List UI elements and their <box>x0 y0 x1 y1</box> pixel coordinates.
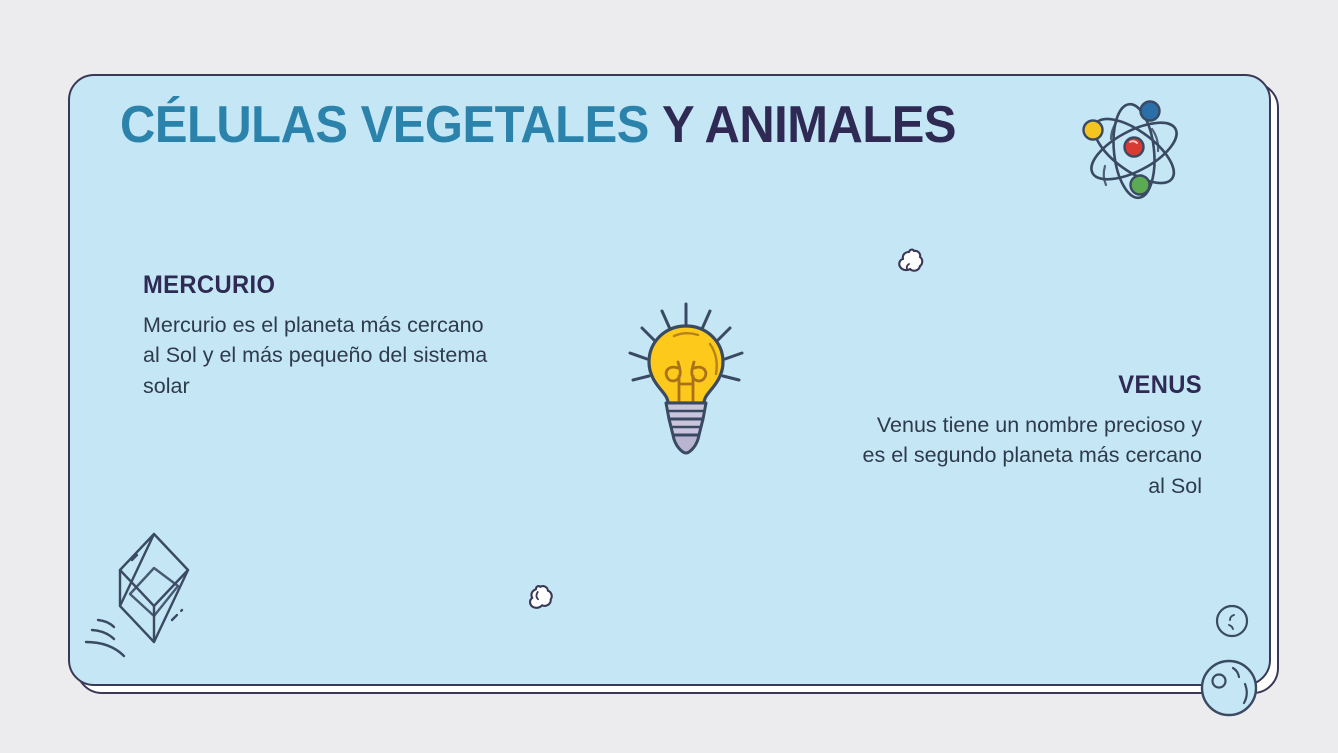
slide-stage: CÉLULAS VEGETALES Y ANIMALES MERCURIO Me… <box>0 0 1338 753</box>
atom-icon <box>1073 90 1195 212</box>
slide-card: CÉLULAS VEGETALES Y ANIMALES MERCURIO Me… <box>68 74 1271 686</box>
info-block-mercurio: MERCURIO Mercurio es el planeta más cerc… <box>143 272 503 401</box>
lightbulb-icon <box>622 298 750 460</box>
info-block-heading: VENUS <box>868 372 1202 400</box>
page-title: CÉLULAS VEGETALES Y ANIMALES <box>120 98 956 153</box>
page-title-secondary: Y ANIMALES <box>662 96 956 154</box>
wireframe-cube-icon <box>80 524 202 654</box>
cloud-icon <box>525 578 565 618</box>
planet-icon <box>1214 603 1250 639</box>
info-block-venus: VENUS Venus tiene un nombre precioso y e… <box>850 372 1202 501</box>
page-title-space <box>649 96 662 154</box>
page-title-primary: CÉLULAS VEGETALES <box>120 96 649 154</box>
info-block-body: Mercurio es el planeta más cercano al So… <box>143 310 503 402</box>
info-block-body: Venus tiene un nombre precioso y es el s… <box>850 410 1202 502</box>
cloud-icon <box>895 243 935 283</box>
info-block-heading: MERCURIO <box>143 272 485 300</box>
